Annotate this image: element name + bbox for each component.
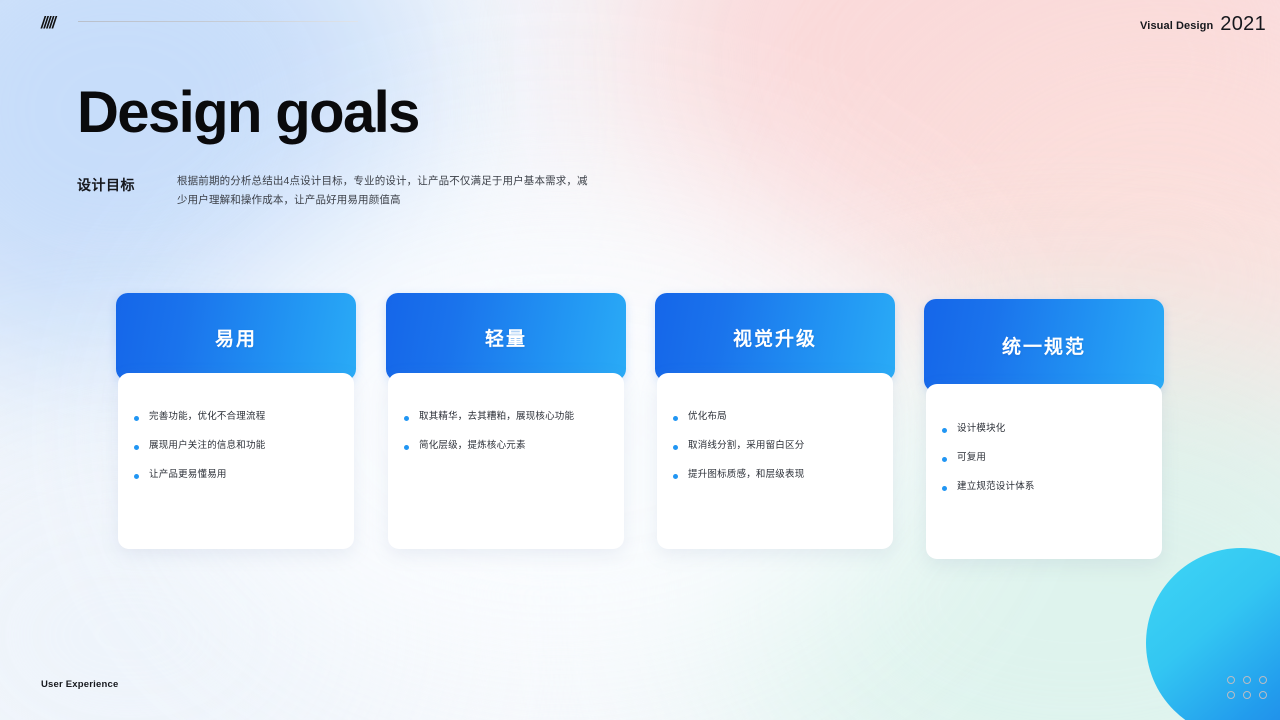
goal-bullet-list: 完善功能，优化不合理流程 展现用户关注的信息和功能 让产品更易懂易用 [118, 411, 354, 481]
goal-bullet-text: 取其精华，去其糟粕，展现核心功能 [419, 411, 574, 424]
list-item: 设计模块化 [942, 423, 1148, 436]
goal-bullet-list: 取其精华，去其糟粕，展现核心功能 简化层级，提炼核心元素 [388, 411, 624, 453]
top-bar: ///// Visual Design 2021 [0, 0, 1280, 46]
list-item: 简化层级，提炼核心元素 [404, 440, 610, 453]
grid-dot-icon [1259, 676, 1267, 684]
brand-name: Visual Design [1140, 20, 1213, 32]
goal-card[interactable]: 易用 完善功能，优化不合理流程 展现用户关注的信息和功能 让产品更易懂易用 [116, 293, 356, 549]
goal-card-body: 设计模块化 可复用 建立规范设计体系 [926, 384, 1162, 559]
goal-bullet-text: 简化层级，提炼核心元素 [419, 440, 526, 453]
top-divider-line [78, 21, 358, 22]
goal-card-header: 视觉升级 [655, 293, 895, 381]
goal-card-body: 取其精华，去其糟粕，展现核心功能 简化层级，提炼核心元素 [388, 373, 624, 549]
subtitle-text: 根据前期的分析总结出4点设计目标，专业的设计，让产品不仅满足于用户基本需求，减少… [177, 172, 597, 211]
goal-bullet-text: 完善功能，优化不合理流程 [149, 411, 265, 424]
list-item: 提升图标质感，和层级表现 [673, 469, 879, 482]
slide-canvas: ///// Visual Design 2021 Design goals 设计… [0, 0, 1280, 720]
list-item: 完善功能，优化不合理流程 [134, 411, 340, 424]
goal-bullet-text: 可复用 [957, 452, 986, 465]
grid-dot-icon [1243, 676, 1251, 684]
goal-bullet-text: 建立规范设计体系 [957, 481, 1035, 494]
goal-card-title: 统一规范 [1002, 332, 1086, 359]
list-item: 可复用 [942, 452, 1148, 465]
list-item: 取其精华，去其糟粕，展现核心功能 [404, 411, 610, 424]
goal-card-title: 轻量 [485, 324, 527, 351]
list-item: 优化布局 [673, 411, 879, 424]
bullet-dot-icon [673, 416, 678, 421]
page-title: Design goals [77, 84, 419, 142]
list-item: 让产品更易懂易用 [134, 469, 340, 482]
bullet-dot-icon [134, 416, 139, 421]
goal-card[interactable]: 视觉升级 优化布局 取消线分割，采用留白区分 提升图标质感，和层级表现 [655, 293, 895, 549]
bullet-dot-icon [134, 445, 139, 450]
grid-dot-icon [1227, 676, 1235, 684]
goal-card[interactable]: 统一规范 设计模块化 可复用 建立规范设计体系 [924, 299, 1164, 559]
goal-bullet-text: 提升图标质感，和层级表现 [688, 469, 804, 482]
goal-card-header: 轻量 [386, 293, 626, 381]
bullet-dot-icon [404, 445, 409, 450]
goal-bullet-text: 展现用户关注的信息和功能 [149, 440, 265, 453]
goal-card-header: 易用 [116, 293, 356, 381]
bullet-dot-icon [404, 416, 409, 421]
goal-bullet-list: 优化布局 取消线分割，采用留白区分 提升图标质感，和层级表现 [657, 411, 893, 481]
goal-bullet-text: 让产品更易懂易用 [149, 469, 227, 482]
brand-block: Visual Design 2021 [1140, 13, 1266, 33]
bullet-dot-icon [134, 474, 139, 479]
list-item: 展现用户关注的信息和功能 [134, 440, 340, 453]
goal-bullet-text: 设计模块化 [957, 423, 1006, 436]
goal-bullet-text: 优化布局 [688, 411, 727, 424]
goal-card-title: 易用 [215, 324, 257, 351]
goal-card-title: 视觉升级 [733, 324, 817, 351]
bullet-dot-icon [942, 428, 947, 433]
footer-label: User Experience [41, 679, 118, 690]
goal-card-header: 统一规范 [924, 299, 1164, 392]
subtitle-block: 设计目标 根据前期的分析总结出4点设计目标，专业的设计，让产品不仅满足于用户基本… [77, 172, 597, 211]
bullet-dot-icon [673, 445, 678, 450]
subtitle-label: 设计目标 [77, 172, 177, 195]
brand-year: 2021 [1220, 14, 1266, 34]
goal-card-body: 优化布局 取消线分割，采用留白区分 提升图标质感，和层级表现 [657, 373, 893, 549]
goal-bullet-text: 取消线分割，采用留白区分 [688, 440, 804, 453]
goal-card-body: 完善功能，优化不合理流程 展现用户关注的信息和功能 让产品更易懂易用 [118, 373, 354, 549]
list-item: 取消线分割，采用留白区分 [673, 440, 879, 453]
bullet-dot-icon [942, 486, 947, 491]
bullet-dot-icon [942, 457, 947, 462]
slash-mark-icon: ///// [41, 13, 55, 33]
goal-card-list: 易用 完善功能，优化不合理流程 展现用户关注的信息和功能 让产品更易懂易用 轻量… [116, 293, 1164, 555]
bullet-dot-icon [673, 474, 678, 479]
grid-dot-icon [1227, 691, 1235, 699]
list-item: 建立规范设计体系 [942, 481, 1148, 494]
grid-dot-icon [1259, 691, 1267, 699]
decorative-dot-grid [1227, 676, 1267, 699]
goal-bullet-list: 设计模块化 可复用 建立规范设计体系 [926, 423, 1162, 493]
grid-dot-icon [1243, 691, 1251, 699]
goal-card[interactable]: 轻量 取其精华，去其糟粕，展现核心功能 简化层级，提炼核心元素 [386, 293, 626, 549]
